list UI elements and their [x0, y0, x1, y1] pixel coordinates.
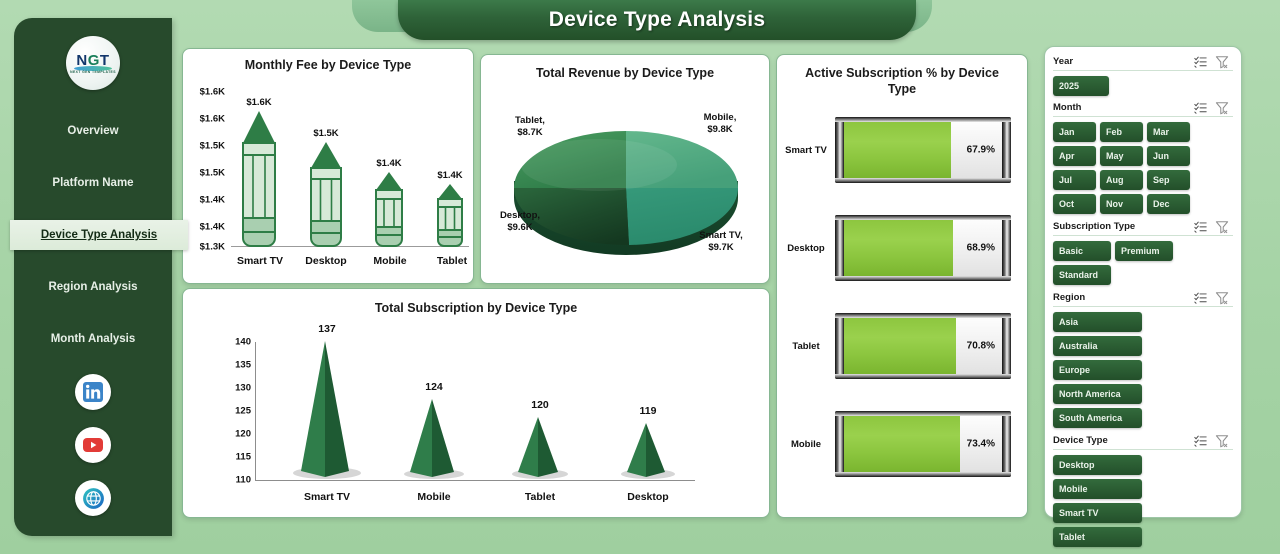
pyramid-tablet[interactable]: 120	[507, 415, 573, 479]
slicer-chip-north-america[interactable]: North America	[1053, 384, 1142, 404]
x-category-label: Tablet	[417, 255, 487, 267]
battery-edge-top	[835, 313, 1011, 318]
chart-title-total-revenue: Total Revenue by Device Type	[481, 66, 769, 80]
y-tick-label: 115	[221, 452, 251, 463]
sidebar-item-platform-name[interactable]: Platform Name	[14, 168, 172, 198]
clear-filter-icon[interactable]	[1211, 54, 1233, 70]
chart-card-total-revenue: Total Revenue by Device Type	[480, 54, 770, 284]
slicer-chip-jun[interactable]: Jun	[1147, 146, 1190, 166]
pyramid-smart-tv[interactable]: 137	[287, 339, 367, 479]
bar-value-label: $1.5K	[313, 128, 338, 139]
pencil-shape	[307, 141, 345, 247]
linkedin-icon	[81, 380, 105, 404]
slicer-chip-jan[interactable]: Jan	[1053, 122, 1096, 142]
brand-logo: NGT NEXT GEN TEMPLATES	[66, 36, 120, 90]
gauge-value-label: 73.4%	[967, 439, 995, 450]
gauge-row-desktop[interactable]: Desktop 68.9%	[777, 205, 1029, 291]
slicer-chip-tablet[interactable]: Tablet	[1053, 527, 1142, 547]
gauge-fill	[844, 416, 960, 472]
slicer-subscription-type: Subscription Type Basic Premium Standard	[1053, 218, 1233, 285]
sidebar-item-label: Platform Name	[52, 177, 133, 189]
multi-select-icon[interactable]	[1189, 219, 1211, 235]
sidebar-item-label: Month Analysis	[51, 333, 136, 345]
x-category-label: Desktop	[291, 255, 361, 267]
battery-cap-right	[1002, 215, 1011, 281]
chart-card-total-subscription: Total Subscription by Device Type 140 13…	[182, 288, 770, 518]
pyramid-mobile[interactable]: 124	[399, 397, 469, 479]
y-tick-label: 120	[221, 429, 251, 440]
slicer-chip-jul[interactable]: Jul	[1053, 170, 1096, 190]
multi-select-icon[interactable]	[1189, 100, 1211, 116]
slicer-title: Region	[1053, 292, 1189, 303]
sidebar: NGT NEXT GEN TEMPLATES Overview Platform…	[14, 18, 172, 536]
bar-value-label: 119	[640, 405, 657, 417]
chart-card-active-subscription: Active Subscription % by Device Type Sma…	[776, 54, 1028, 518]
slicer-region: Region Asia Australia Europe North Ameri…	[1053, 289, 1233, 428]
slicer-chips: 2025	[1053, 76, 1233, 96]
chart-title-total-subscription: Total Subscription by Device Type	[183, 301, 769, 315]
slicer-header: Device Type	[1053, 432, 1233, 450]
youtube-icon	[81, 433, 105, 457]
slicer-chip-dec[interactable]: Dec	[1147, 194, 1190, 214]
sidebar-item-label: Device Type Analysis	[41, 229, 157, 241]
slicer-month: Month Jan Feb Mar Apr May Jun Jul	[1053, 99, 1233, 214]
youtube-link[interactable]	[75, 427, 111, 463]
bar-value-label: 124	[425, 381, 443, 393]
pyramid-desktop[interactable]: 119	[615, 421, 681, 479]
y-tick-label: $1.3K	[183, 242, 225, 253]
pencil-shape	[433, 183, 467, 247]
y-tick-label: $1.5K	[183, 168, 225, 179]
battery-gauge: 73.4%	[835, 411, 1011, 477]
globe-icon	[81, 486, 106, 511]
sidebar-item-overview[interactable]: Overview	[14, 116, 172, 146]
gauge-row-tablet[interactable]: Tablet 70.8%	[777, 303, 1029, 389]
bar-tablet[interactable]: $1.4K	[433, 170, 467, 247]
battery-edge-bottom	[835, 374, 1011, 379]
slicer-chips: Basic Premium Standard	[1053, 241, 1233, 285]
battery-cap-right	[1002, 117, 1011, 183]
battery-cap-left	[835, 411, 844, 477]
dashboard-canvas: Device Type Analysis NGT NEXT GEN TEMPLA…	[0, 0, 1280, 554]
gauge-category-label: Smart TV	[777, 145, 835, 156]
battery-cap-left	[835, 215, 844, 281]
battery-edge-top	[835, 215, 1011, 220]
pie-label-desktop: Desktop,$9.6K	[483, 210, 557, 234]
battery-edge-top	[835, 117, 1011, 122]
slicer-chip-premium[interactable]: Premium	[1115, 241, 1173, 261]
slicer-chips: Asia Australia Europe North America Sout…	[1053, 312, 1233, 428]
x-category-label: Tablet	[507, 491, 573, 503]
slicer-header: Region	[1053, 289, 1233, 307]
slicer-chip-europe[interactable]: Europe	[1053, 360, 1142, 380]
logo-swoosh-icon	[74, 66, 112, 71]
battery-edge-bottom	[835, 276, 1011, 281]
slicer-chip-apr[interactable]: Apr	[1053, 146, 1096, 166]
slicer-year: Year 2025	[1053, 53, 1233, 96]
sidebar-item-label: Region Analysis	[48, 281, 137, 293]
slicer-title: Month	[1053, 102, 1189, 113]
x-category-label: Mobile	[399, 491, 469, 503]
battery-cap-left	[835, 313, 844, 379]
y-tick-label: $1.6K	[183, 87, 225, 98]
bar-smart-tv[interactable]: $1.6K	[239, 97, 279, 247]
slicer-chip-mobile[interactable]: Mobile	[1053, 479, 1142, 499]
page-header: Device Type Analysis	[398, 0, 916, 40]
gauge-category-label: Mobile	[777, 439, 835, 450]
sidebar-item-device-type-analysis[interactable]: Device Type Analysis	[10, 220, 188, 250]
slicer-chip-aug[interactable]: Aug	[1100, 170, 1143, 190]
battery-edge-top	[835, 411, 1011, 416]
battery-edge-bottom	[835, 178, 1011, 183]
y-axis-line	[255, 342, 256, 480]
gauge-category-label: Desktop	[777, 243, 835, 254]
slicer-chip-desktop[interactable]: Desktop	[1053, 455, 1142, 475]
battery-cap-right	[1002, 313, 1011, 379]
slicer-device-type: Device Type Desktop Mobile Smart TV Tabl…	[1053, 432, 1233, 547]
slicer-title: Subscription Type	[1053, 221, 1189, 232]
gauge-row-mobile[interactable]: Mobile 73.4%	[777, 401, 1029, 487]
slicer-chip-feb[interactable]: Feb	[1100, 122, 1143, 142]
slicer-title: Year	[1053, 56, 1189, 67]
y-tick-label: 130	[221, 383, 251, 394]
gauge-row-smart-tv[interactable]: Smart TV 67.9%	[777, 107, 1029, 193]
chart-title-active-subscription: Active Subscription % by Device Type	[777, 66, 1027, 97]
gauge-fill	[844, 220, 953, 276]
slicer-chip-smart-tv[interactable]: Smart TV	[1053, 503, 1142, 523]
sidebar-item-region-analysis[interactable]: Region Analysis	[14, 272, 172, 302]
battery-gauge: 68.9%	[835, 215, 1011, 281]
battery-cap-right	[1002, 411, 1011, 477]
chart-card-monthly-fee: Monthly Fee by Device Type $1.6K $1.6K $…	[182, 48, 474, 284]
gauge-value-label: 68.9%	[967, 243, 995, 254]
y-tick-label: 110	[221, 475, 251, 486]
x-axis-line	[255, 480, 695, 481]
slicer-chip-oct[interactable]: Oct	[1053, 194, 1096, 214]
slicer-chip-asia[interactable]: Asia	[1053, 312, 1142, 332]
bar-desktop[interactable]: $1.5K	[307, 128, 345, 247]
bar-value-label: $1.4K	[437, 170, 462, 181]
y-tick-label: 135	[221, 360, 251, 371]
filter-panel: Year 2025 Month	[1044, 46, 1242, 518]
bar-value-label: 120	[531, 399, 549, 411]
y-tick-label: 140	[221, 337, 251, 348]
battery-edge-bottom	[835, 472, 1011, 477]
slicer-chip-australia[interactable]: Australia	[1053, 336, 1142, 356]
sidebar-item-label: Overview	[67, 125, 118, 137]
gauge-fill	[844, 318, 956, 374]
battery-gauge: 70.8%	[835, 313, 1011, 379]
page-title: Device Type Analysis	[549, 8, 765, 32]
y-tick-label: $1.4K	[183, 195, 225, 206]
website-link[interactable]	[75, 480, 111, 516]
slicer-chips: Jan Feb Mar Apr May Jun Jul Aug Sep Oct …	[1053, 122, 1233, 214]
multi-select-icon[interactable]	[1189, 433, 1211, 449]
slicer-chip-standard[interactable]: Standard	[1053, 265, 1111, 285]
slicer-chips: Desktop Mobile Smart TV Tablet	[1053, 455, 1233, 547]
slicer-chip-may[interactable]: May	[1100, 146, 1143, 166]
clear-filter-icon[interactable]	[1211, 219, 1233, 235]
gauge-fill	[844, 122, 951, 178]
clear-filter-icon[interactable]	[1211, 100, 1233, 116]
x-category-label: Mobile	[355, 255, 425, 267]
total-subscription-plot: 140 135 130 125 120 115 110 137 Smart TV	[183, 319, 771, 517]
y-tick-label: $1.5K	[183, 141, 225, 152]
sidebar-item-month-analysis[interactable]: Month Analysis	[14, 324, 172, 354]
slicer-header: Year	[1053, 53, 1233, 71]
multi-select-icon[interactable]	[1189, 290, 1211, 306]
slicer-header: Month	[1053, 99, 1233, 117]
monthly-fee-plot: $1.6K $1.6K $1.5K $1.5K $1.4K $1.4K $1.3…	[183, 75, 475, 285]
slicer-chip-nov[interactable]: Nov	[1100, 194, 1143, 214]
multi-select-icon[interactable]	[1189, 54, 1211, 70]
y-tick-label: $1.6K	[183, 114, 225, 125]
battery-cap-left	[835, 117, 844, 183]
gauge-value-label: 67.9%	[967, 145, 995, 156]
slicer-chip-mar[interactable]: Mar	[1147, 122, 1190, 142]
bar-value-label: $1.6K	[246, 97, 271, 108]
chart-title-monthly-fee: Monthly Fee by Device Type	[183, 58, 473, 72]
bar-value-label: $1.4K	[376, 158, 401, 169]
gauge-category-label: Tablet	[777, 341, 835, 352]
bar-mobile[interactable]: $1.4K	[371, 158, 407, 247]
slicer-title: Device Type	[1053, 435, 1189, 446]
pencil-shape	[239, 110, 279, 247]
slicer-chip-south-america[interactable]: South America	[1053, 408, 1142, 428]
pie-label-mobile: Mobile,$9.8K	[683, 112, 757, 136]
linkedin-link[interactable]	[75, 374, 111, 410]
x-category-label: Desktop	[615, 491, 681, 503]
pie-label-tablet: Tablet,$8.7K	[495, 115, 565, 139]
x-category-label: Smart TV	[287, 491, 367, 503]
battery-gauge: 67.9%	[835, 117, 1011, 183]
clear-filter-icon[interactable]	[1211, 290, 1233, 306]
slicer-chip-sep[interactable]: Sep	[1147, 170, 1190, 190]
y-tick-label: 125	[221, 406, 251, 417]
y-tick-label: $1.4K	[183, 222, 225, 233]
x-category-label: Smart TV	[225, 255, 295, 267]
slicer-header: Subscription Type	[1053, 218, 1233, 236]
gauge-value-label: 70.8%	[967, 341, 995, 352]
pencil-shape	[371, 171, 407, 247]
slicer-chip-2025[interactable]: 2025	[1053, 76, 1109, 96]
bar-value-label: 137	[318, 323, 336, 335]
pie-label-smart-tv: Smart TV,$9.7K	[679, 230, 763, 254]
slicer-chip-basic[interactable]: Basic	[1053, 241, 1111, 261]
clear-filter-icon[interactable]	[1211, 433, 1233, 449]
